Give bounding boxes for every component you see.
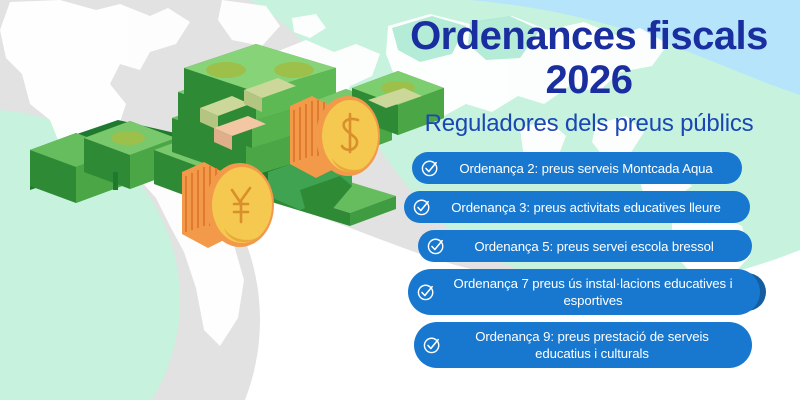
page-title: Ordenances fiscals 2026	[384, 14, 794, 102]
check-circle-icon	[416, 282, 436, 302]
list-item[interactable]: Ordenança 9: preus prestació de serveis …	[414, 322, 752, 368]
title-line-1: Ordenances fiscals	[410, 14, 768, 58]
gold-coin-dollar-icon	[290, 96, 380, 178]
check-circle-icon	[420, 158, 440, 178]
gold-coin-yen-icon	[182, 162, 274, 248]
ordinance-list: Ordenança 2: preus serveis Montcada Aqua…	[398, 152, 798, 375]
list-item[interactable]: Ordenança 5: preus servei escola bressol	[418, 230, 752, 262]
list-item-label: Ordenança 3: preus activitats educatives…	[436, 199, 740, 216]
list-item[interactable]: Ordenança 3: preus activitats educatives…	[404, 191, 750, 223]
list-item[interactable]: Ordenança 7 preus ús instal·lacions educ…	[408, 269, 760, 315]
list-item-label: Ordenança 7 preus ús instal·lacions educ…	[440, 275, 750, 309]
list-item-label: Ordenança 5: preus servei escola bressol	[450, 238, 742, 255]
page-subtitle: Reguladores dels preus públics	[384, 110, 794, 138]
poster-canvas: Ordenances fiscals 2026 Reguladores dels…	[0, 0, 800, 400]
check-circle-icon	[412, 197, 432, 217]
list-item[interactable]: Ordenança 2: preus serveis Montcada Aqua	[412, 152, 742, 184]
list-item-label: Ordenança 9: preus prestació de serveis …	[446, 328, 742, 362]
check-circle-icon	[426, 236, 446, 256]
list-item-label: Ordenança 2: preus serveis Montcada Aqua	[444, 160, 732, 177]
title-line-2: 2026	[546, 58, 633, 102]
headline-block: Ordenances fiscals 2026 Reguladores dels…	[384, 14, 794, 138]
check-circle-icon	[422, 335, 442, 355]
